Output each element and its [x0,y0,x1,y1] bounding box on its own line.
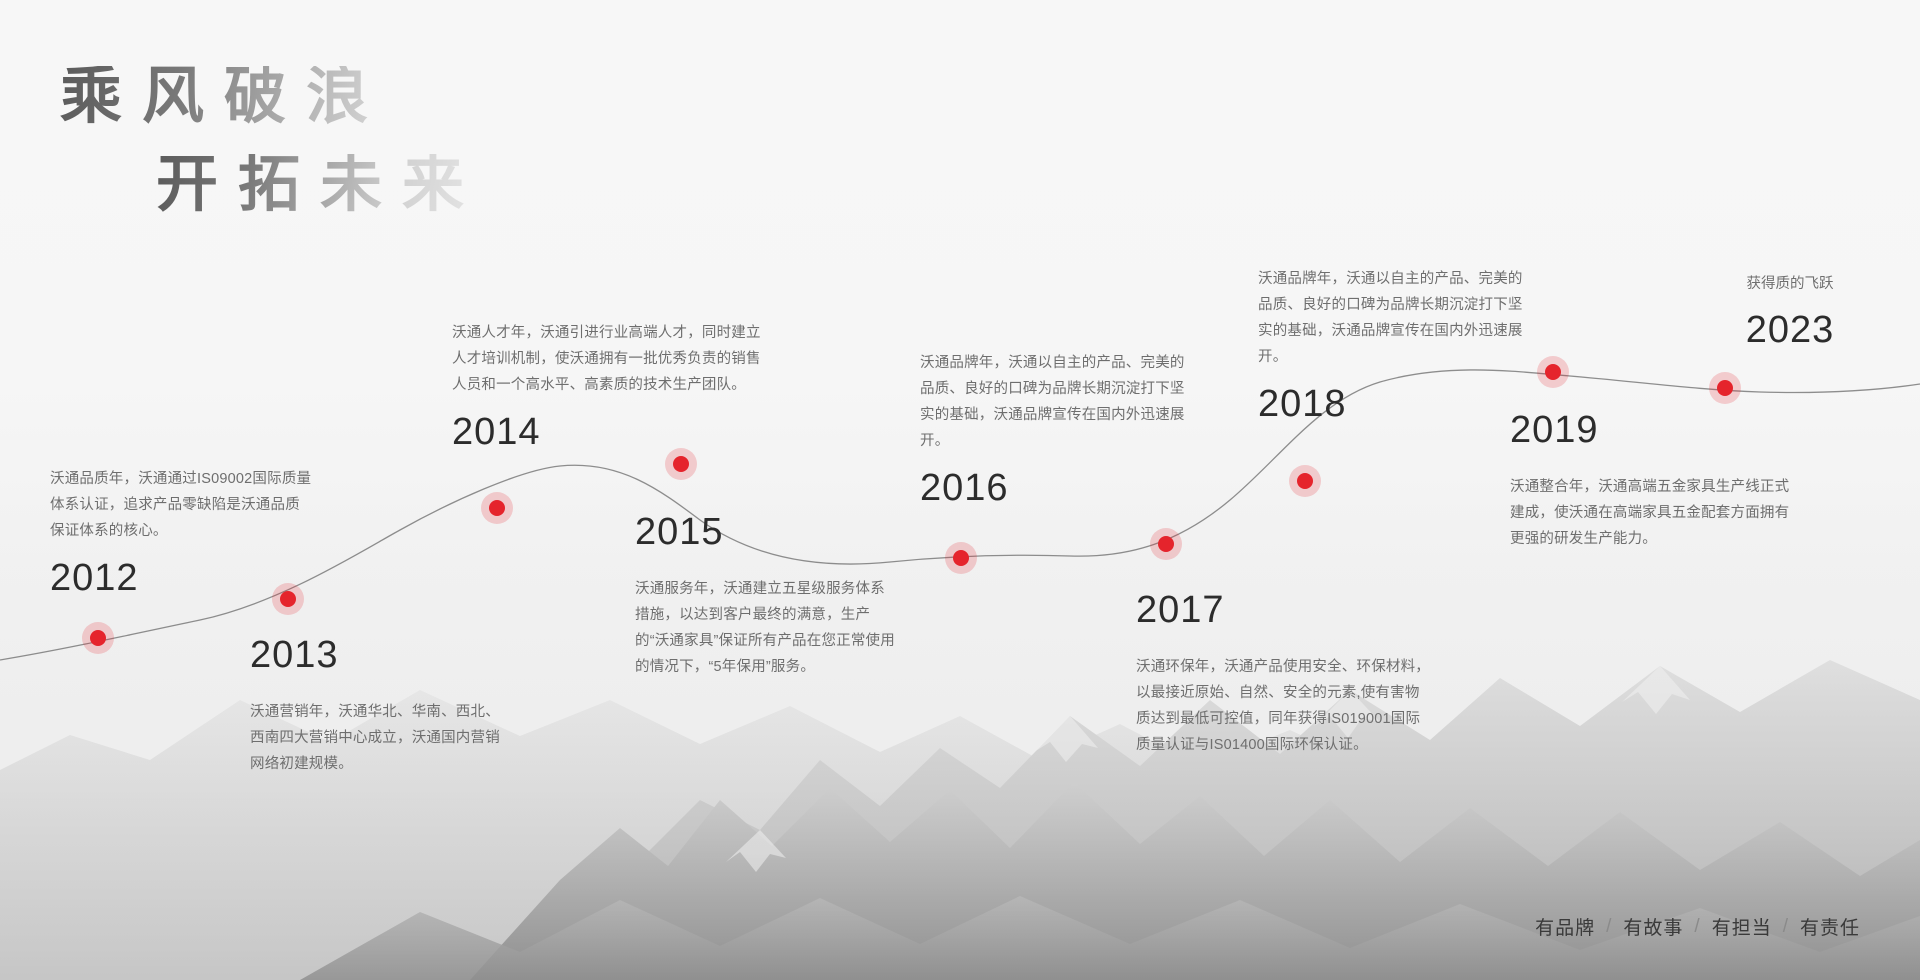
timeline-entry-2014: 沃通人才年，沃通引进行业高端人才，同时建立人才培训机制，使沃通拥有一批优秀负责的… [452,320,762,454]
slogan-item-2: 有故事 [1623,913,1683,940]
entry-year: 2013 [250,635,512,677]
entry-description: 沃通品牌年，沃通以自主的产品、完美的品质、良好的口碑为品牌长期沉淀打下坚实的基础… [920,350,1188,454]
title-line-1: 乘风破浪 [60,66,484,128]
entry-kicker: 获得质的飞跃 [1675,272,1905,296]
node-dot-icon [90,630,106,646]
page-title: 乘风破浪 开拓未来 [60,66,484,216]
slogan-item-4: 有责任 [1800,913,1860,940]
node-dot-icon [673,456,689,472]
entry-year: 2018 [1258,384,1526,426]
slogan-separator: / [1783,916,1789,938]
entry-description: 沃通品牌年，沃通以自主的产品、完美的品质、良好的口碑为品牌长期沉淀打下坚实的基础… [1258,266,1526,370]
timeline-entry-2017: 2017 沃通环保年，沃通产品使用安全、环保材料，以最接近原始、自然、安全的元素… [1136,590,1434,758]
entry-description: 沃通人才年，沃通引进行业高端人才，同时建立人才培训机制，使沃通拥有一批优秀负责的… [452,320,762,398]
slogan-item-1: 有品牌 [1535,913,1595,940]
poster-canvas: 乘风破浪 开拓未来 沃通品质年 [0,0,1920,980]
node-dot-icon [1545,364,1561,380]
entry-description: 沃通服务年，沃通建立五星级服务体系措施，以达到客户最终的满意，生产的“沃通家具”… [635,576,897,680]
timeline-entry-2016: 沃通品牌年，沃通以自主的产品、完美的品质、良好的口碑为品牌长期沉淀打下坚实的基础… [920,350,1188,510]
entry-description: 沃通营销年，沃通华北、华南、西北、西南四大营销中心成立，沃通国内营销网络初建规模… [250,699,512,777]
timeline-entry-2018: 沃通品牌年，沃通以自主的产品、完美的品质、良好的口碑为品牌长期沉淀打下坚实的基础… [1258,266,1526,426]
node-dot-icon [489,500,505,516]
title-line-2: 开拓未来 [156,154,484,216]
entry-year: 2015 [635,512,897,554]
entry-year: 2014 [452,412,762,454]
timeline-entry-2019: 2019 沃通整合年，沃通高端五金家具生产线正式建成，使沃通在高端家具五金配套方… [1510,410,1800,552]
entry-description: 沃通整合年，沃通高端五金家具生产线正式建成，使沃通在高端家具五金配套方面拥有更强… [1510,474,1800,552]
timeline-entry-2013: 2013 沃通营销年，沃通华北、华南、西北、西南四大营销中心成立，沃通国内营销网… [250,635,512,777]
node-dot-icon [1297,473,1313,489]
entry-year: 2019 [1510,410,1800,452]
entry-description: 沃通环保年，沃通产品使用安全、环保材料，以最接近原始、自然、安全的元素,使有害物… [1136,654,1434,758]
node-dot-icon [1158,536,1174,552]
node-dot-icon [1717,380,1733,396]
slogan-separator: / [1606,916,1612,938]
entry-year: 2012 [50,558,312,600]
slogan-item-3: 有担当 [1712,913,1772,940]
timeline-entry-2023: 获得质的飞跃 2023 [1675,272,1905,352]
timeline-entry-2012: 沃通品质年，沃通通过IS09002国际质量体系认证，追求产品零缺陷是沃通品质保证… [50,466,312,600]
entry-description: 沃通品质年，沃通通过IS09002国际质量体系认证，追求产品零缺陷是沃通品质保证… [50,466,312,544]
timeline-entry-2015: 2015 沃通服务年，沃通建立五星级服务体系措施，以达到客户最终的满意，生产的“… [635,512,897,680]
slogan-separator: / [1694,916,1700,938]
entry-year: 2023 [1675,310,1905,352]
footer-slogan: 有品牌 / 有故事 / 有担当 / 有责任 [1535,913,1860,940]
entry-year: 2016 [920,468,1188,510]
entry-year: 2017 [1136,590,1434,632]
node-dot-icon [953,550,969,566]
